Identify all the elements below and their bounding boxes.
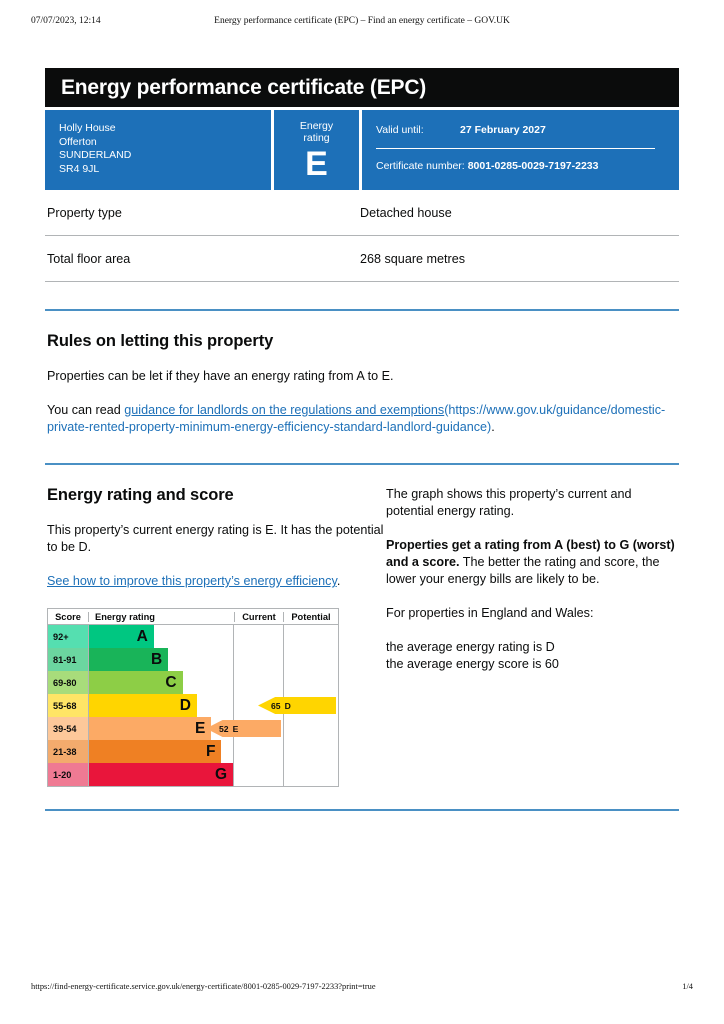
letting-rules-text: Properties can be let if they have an en… bbox=[47, 368, 679, 385]
epc-band-area: C bbox=[89, 671, 234, 694]
epc-band-bar-e: E bbox=[89, 717, 211, 740]
epc-band-area: B bbox=[89, 648, 234, 671]
certificate-number-value: 8001-0285-0029-7197-2233 bbox=[468, 160, 599, 172]
epc-band-row-c: 69-80 C bbox=[48, 671, 338, 694]
detail-value: 268 square metres bbox=[360, 252, 679, 266]
epc-current-cell: 52 E bbox=[234, 717, 284, 740]
rating-right-column: The graph shows this property’s current … bbox=[386, 465, 679, 787]
improve-link-trailing: . bbox=[337, 574, 341, 588]
guidance-trailing: . bbox=[491, 420, 495, 434]
epc-band-bar-b: B bbox=[89, 648, 168, 671]
rating-section-heading: Energy rating and score bbox=[47, 486, 386, 505]
valid-until-label: Valid until: bbox=[376, 124, 460, 136]
summary-banner: Holly House Offerton SUNDERLAND SR4 9JL … bbox=[45, 110, 679, 190]
epc-band-bar-c: C bbox=[89, 671, 183, 694]
address-line-1: Holly House bbox=[59, 122, 257, 136]
epc-band-bar-g: G bbox=[89, 763, 233, 786]
rating-left-column: Energy rating and score This property’s … bbox=[45, 465, 386, 787]
detail-row-property-type: Property type Detached house bbox=[45, 190, 679, 236]
epc-potential-cell bbox=[284, 625, 338, 648]
epc-score-range: 69-80 bbox=[48, 671, 89, 694]
epc-potential-cell bbox=[284, 717, 338, 740]
epc-band-row-b: 81-91 B bbox=[48, 648, 338, 671]
epc-col-current: Current bbox=[235, 612, 284, 622]
improve-link-paragraph: See how to improve this property’s energ… bbox=[47, 573, 386, 590]
epc-potential-cell bbox=[284, 763, 338, 786]
print-header: 07/07/2023, 12:14 Energy performance cer… bbox=[0, 16, 724, 30]
epc-col-energy-rating: Energy rating bbox=[89, 612, 235, 622]
certificate-sheet: Energy performance certificate (EPC) Hol… bbox=[45, 68, 679, 811]
epc-graph-header: Score Energy rating Current Potential bbox=[48, 609, 338, 625]
epc-potential-cell bbox=[284, 671, 338, 694]
epc-rating-graph: Score Energy rating Current Potential 92… bbox=[47, 608, 339, 787]
rating-scale-explainer: Properties get a rating from A (best) to… bbox=[386, 537, 679, 588]
epc-band-row-e: 39-54 E 52 E bbox=[48, 717, 338, 740]
epc-band-area: A bbox=[89, 625, 234, 648]
epc-score-range: 92+ bbox=[48, 625, 89, 648]
epc-band-area: G bbox=[89, 763, 234, 786]
valid-until-row: Valid until: 27 February 2027 bbox=[376, 124, 665, 136]
valid-until-value: 27 February 2027 bbox=[460, 124, 546, 136]
epc-score-range: 21-38 bbox=[48, 740, 89, 763]
address-line-3: SUNDERLAND bbox=[59, 149, 257, 163]
letting-guidance-paragraph: You can read guidance for landlords on t… bbox=[47, 402, 679, 436]
epc-score-range: 55-68 bbox=[48, 694, 89, 717]
detail-row-floor-area: Total floor area 268 square metres bbox=[45, 236, 679, 282]
print-page-number: 1/4 bbox=[682, 982, 693, 991]
detail-value: Detached house bbox=[360, 206, 679, 220]
epc-current-cell bbox=[234, 763, 284, 786]
property-address: Holly House Offerton SUNDERLAND SR4 9JL bbox=[45, 110, 274, 190]
improve-efficiency-link[interactable]: See how to improve this property’s energ… bbox=[47, 574, 337, 588]
epc-band-area: D bbox=[89, 694, 234, 717]
epc-current-cell bbox=[234, 671, 284, 694]
section-divider-top bbox=[45, 309, 679, 311]
average-stats: the average energy rating is D the avera… bbox=[386, 639, 679, 673]
address-postcode: SR4 9JL bbox=[59, 163, 257, 177]
epc-potential-cell bbox=[284, 648, 338, 671]
detail-label: Property type bbox=[47, 206, 360, 220]
current-band-letter: E bbox=[233, 724, 239, 734]
epc-band-row-d: 55-68 D 65 D bbox=[48, 694, 338, 717]
epc-band-area: F bbox=[89, 740, 234, 763]
epc-score-range: 1-20 bbox=[48, 763, 89, 786]
graph-intro-text: The graph shows this property’s current … bbox=[386, 486, 679, 520]
rating-and-score-section: Energy rating and score This property’s … bbox=[45, 465, 679, 787]
epc-graph-body: 92+ A 81-91 B bbox=[48, 625, 338, 786]
epc-band-bar-a: A bbox=[89, 625, 154, 648]
detail-label: Total floor area bbox=[47, 252, 360, 266]
current-score-value: 52 bbox=[219, 724, 229, 734]
epc-current-cell bbox=[234, 740, 284, 763]
epc-potential-cell bbox=[284, 740, 338, 763]
epc-current-cell bbox=[234, 648, 284, 671]
print-page-title: Energy performance certificate (EPC) – F… bbox=[0, 16, 724, 26]
energy-rating-label: Energy rating bbox=[288, 120, 345, 144]
epc-band-bar-f: F bbox=[89, 740, 221, 763]
epc-title-bar: Energy performance certificate (EPC) bbox=[45, 68, 679, 107]
page-title: Energy performance certificate (EPC) bbox=[61, 77, 426, 98]
certificate-number-row: Certificate number:8001-0285-0029-7197-2… bbox=[376, 160, 665, 172]
average-score-text: the average energy score is 60 bbox=[386, 657, 559, 671]
print-footer: https://find-energy-certificate.service.… bbox=[0, 982, 724, 996]
print-source-url: https://find-energy-certificate.service.… bbox=[31, 982, 376, 991]
energy-rating-value: E bbox=[288, 146, 345, 182]
epc-col-potential: Potential bbox=[284, 612, 338, 622]
epc-score-range: 39-54 bbox=[48, 717, 89, 740]
landlord-guidance-link[interactable]: guidance for landlords on the regulation… bbox=[124, 403, 444, 417]
address-line-2: Offerton bbox=[59, 136, 257, 150]
letting-rules-heading: Rules on letting this property bbox=[47, 332, 679, 351]
epc-col-score: Score bbox=[48, 612, 89, 622]
validity-block: Valid until: 27 February 2027 Certificat… bbox=[362, 110, 679, 190]
potential-score-value: 65 bbox=[271, 701, 281, 711]
potential-band-letter: D bbox=[285, 701, 291, 711]
current-rating-text: This property’s current energy rating is… bbox=[47, 522, 386, 556]
section-divider-bottom bbox=[45, 809, 679, 811]
epc-band-row-a: 92+ A bbox=[48, 625, 338, 648]
epc-score-range: 81-91 bbox=[48, 648, 89, 671]
energy-rating-block: Energy rating E bbox=[274, 110, 362, 190]
region-label: For properties in England and Wales: bbox=[386, 605, 679, 622]
banner-divider bbox=[376, 148, 655, 149]
epc-band-row-f: 21-38 F bbox=[48, 740, 338, 763]
average-rating-text: the average energy rating is D bbox=[386, 640, 555, 654]
epc-current-cell bbox=[234, 625, 284, 648]
guidance-prefix: You can read bbox=[47, 403, 124, 417]
certificate-number-label: Certificate number: bbox=[376, 160, 465, 172]
epc-band-row-g: 1-20 G bbox=[48, 763, 338, 786]
epc-band-bar-d: D bbox=[89, 694, 197, 717]
epc-potential-cell: 65 D bbox=[284, 694, 338, 717]
